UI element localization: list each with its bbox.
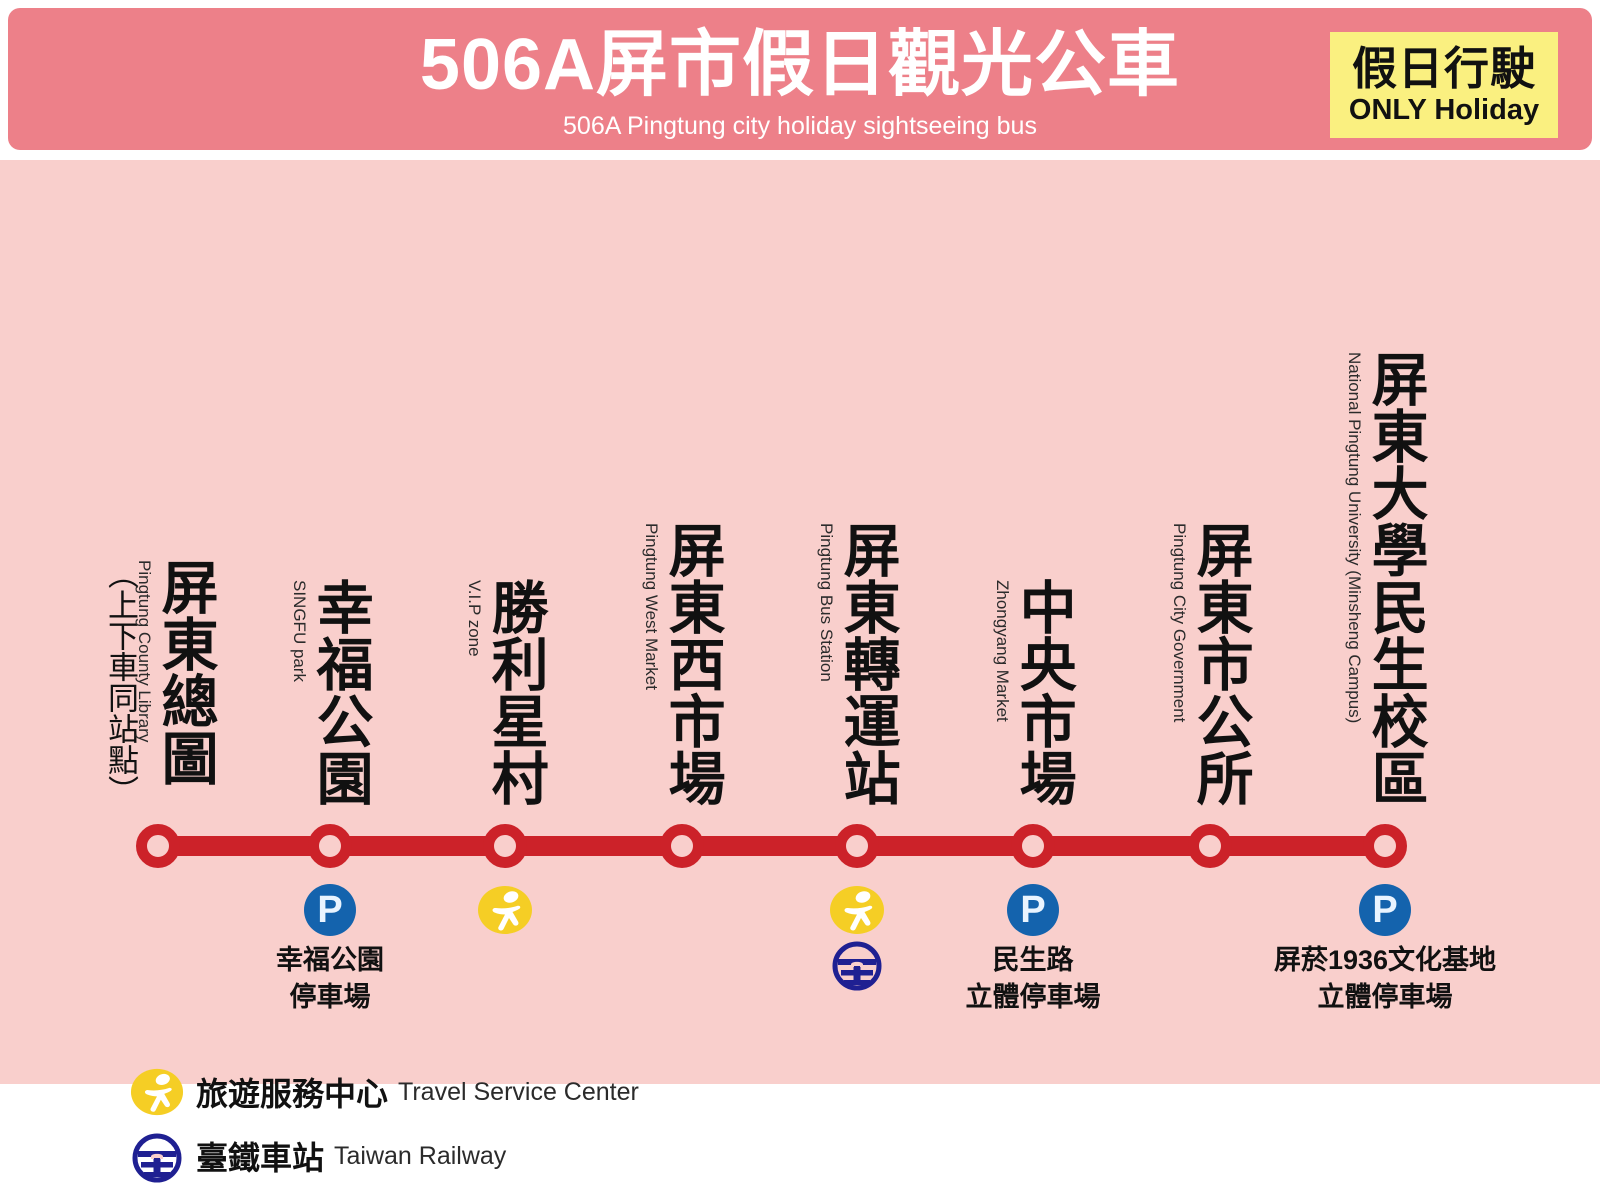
parking-icon: P <box>1007 884 1059 936</box>
station-name-zh: 屏東轉運站 <box>838 521 896 806</box>
station-name-en: Pingtung County Library <box>136 560 153 742</box>
facility-label: 屏菸1936文化基地立體停車場 <box>1274 942 1496 1016</box>
stop-marker[interactable] <box>1011 824 1055 868</box>
station-name-en: SINGFU park <box>291 580 308 682</box>
holiday-badge-label-en: ONLY Holiday <box>1349 94 1539 126</box>
station-note: （上下車同站點） <box>104 558 136 806</box>
holiday-badge-label-zh: 假日行駛 <box>1352 44 1536 94</box>
legend-item: 旅遊服務中心Travel Service Center <box>130 1060 639 1124</box>
legend-label-zh: 臺鐵車站 <box>196 1133 324 1179</box>
legend-icon-wrap <box>130 1128 184 1184</box>
holiday-badge: 假日行駛 ONLY Holiday <box>1330 32 1558 138</box>
travel-info-icon <box>829 884 885 936</box>
travel-info-icon <box>130 1066 184 1118</box>
stop-facilities <box>375 884 635 936</box>
stop-marker[interactable] <box>835 824 879 868</box>
legend-icon-wrap <box>130 1066 184 1118</box>
stop-marker[interactable] <box>483 824 527 868</box>
station-name-zh: 屏東市公所 <box>1191 521 1249 806</box>
travel-info-icon <box>477 884 533 936</box>
legend-label-en: Travel Service Center <box>398 1078 639 1107</box>
stop-marker[interactable] <box>308 824 352 868</box>
station-name-zh: 屏東西市場 <box>663 521 721 806</box>
stop-marker[interactable] <box>136 824 180 868</box>
station-name-en: Zhongyang Market <box>994 580 1011 722</box>
legend: 旅遊服務中心Travel Service Center臺鐵車站Taiwan Ra… <box>130 1060 639 1188</box>
stop-marker[interactable] <box>1363 824 1407 868</box>
station-name-zh: 幸福公園 <box>311 578 369 806</box>
taiwan-railway-icon <box>831 940 883 992</box>
header-bar: 506A屏市假日觀光公車 506A Pingtung city holiday … <box>8 8 1592 150</box>
station-label[interactable]: 屏東大學民生校區National Pingtung University (Mi… <box>1265 160 1505 806</box>
facility-label: 幸福公園停車場 <box>276 942 384 1016</box>
legend-label-zh: 旅遊服務中心 <box>196 1069 388 1115</box>
stop-marker[interactable] <box>1188 824 1232 868</box>
station-name-zh: 屏東總圖 <box>156 558 214 786</box>
stop-facilities: P屏菸1936文化基地立體停車場 <box>1255 884 1515 1016</box>
legend-label-en: Taiwan Railway <box>334 1142 506 1171</box>
station-name-zh: 勝利星村 <box>486 578 544 806</box>
station-name-zh: 中央市場 <box>1014 578 1072 806</box>
taiwan-railway-icon <box>131 1132 183 1184</box>
legend-item: 臺鐵車站Taiwan Railway <box>130 1124 639 1188</box>
station-name-en: Pingtung City Government <box>1171 523 1188 722</box>
facility-label: 民生路立體停車場 <box>966 942 1101 1016</box>
stop-marker[interactable] <box>660 824 704 868</box>
station-name-en: National Pingtung University (Minsheng C… <box>1346 352 1363 723</box>
parking-icon: P <box>1359 884 1411 936</box>
stop-facilities: P民生路立體停車場 <box>903 884 1163 1016</box>
route-diagram-panel: 屏東總圖Pingtung County Library（上下車同站點）幸福公園S… <box>0 160 1600 1084</box>
parking-icon: P <box>304 884 356 936</box>
station-name-en: Pingtung Bus Station <box>818 523 835 682</box>
station-name-zh: 屏東大學民生校區 <box>1366 350 1424 806</box>
station-name-en: Pingtung West Market <box>643 523 660 690</box>
station-name-en: V.I.P zone <box>466 580 483 657</box>
